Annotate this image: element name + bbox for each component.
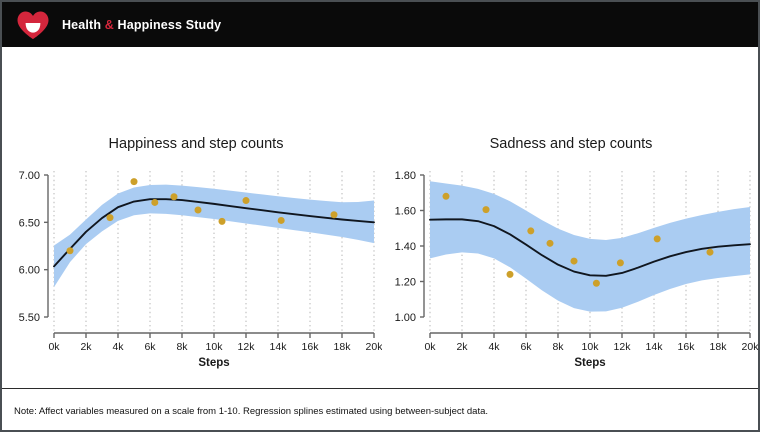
x-tick-label: 2k: [456, 341, 468, 353]
y-tick-label: 1.00: [395, 312, 416, 324]
charts-area: Happiness and step counts 5.506.006.507.…: [2, 47, 758, 388]
page-title: Health & Happiness Study: [62, 18, 221, 32]
plot-group: 1.001.201.401.601.800k2k4k6k8k10k12k14k1…: [395, 170, 758, 369]
data-point: [331, 211, 338, 218]
brand-suffix: Happiness Study: [114, 18, 221, 32]
x-tick-label: 4k: [112, 341, 124, 353]
app-window: Health & Happiness Study Happiness and s…: [0, 0, 760, 432]
x-axis-label: Steps: [198, 357, 229, 369]
chart-sadness: 1.001.201.401.601.800k2k4k6k8k10k12k14k1…: [378, 167, 758, 387]
data-point: [593, 280, 600, 287]
chart-happiness: 5.506.006.507.000k2k4k6k8k10k12k14k16k18…: [2, 167, 382, 387]
data-point: [443, 193, 450, 200]
app-header: Health & Happiness Study: [2, 2, 758, 47]
x-tick-label: 0k: [424, 341, 436, 353]
smiling-heart-icon: [16, 10, 50, 40]
y-tick-label: 5.50: [19, 312, 40, 324]
data-point: [67, 247, 74, 254]
x-tick-label: 14k: [646, 341, 664, 353]
data-point: [151, 199, 158, 206]
data-point: [278, 217, 285, 224]
data-point: [617, 259, 624, 266]
y-tick-label: 1.80: [395, 170, 416, 182]
brand-prefix: Health: [62, 18, 105, 32]
data-point: [243, 197, 250, 204]
data-point: [571, 258, 578, 265]
brand-ampersand: &: [105, 18, 114, 32]
confidence-band: [54, 185, 374, 288]
x-tick-label: 10k: [206, 341, 224, 353]
data-point: [195, 207, 202, 214]
x-tick-label: 2k: [80, 341, 92, 353]
data-point: [527, 227, 534, 234]
x-tick-label: 16k: [678, 341, 696, 353]
x-tick-label: 0k: [48, 341, 60, 353]
y-tick-label: 6.50: [19, 217, 40, 229]
y-tick-label: 1.20: [395, 277, 416, 289]
x-tick-label: 18k: [710, 341, 728, 353]
x-tick-label: 12k: [238, 341, 256, 353]
y-tick-label: 7.00: [19, 170, 40, 182]
x-tick-label: 16k: [302, 341, 320, 353]
x-tick-label: 14k: [270, 341, 288, 353]
x-tick-label: 8k: [176, 341, 188, 353]
plot-group: 5.506.006.507.000k2k4k6k8k10k12k14k16k18…: [19, 170, 382, 369]
confidence-band: [430, 181, 750, 311]
x-tick-label: 18k: [334, 341, 352, 353]
chart-panel-sadness: Sadness and step counts 1.001.201.401.60…: [378, 47, 758, 388]
footer-bar: Note: Affect variables measured on a sca…: [2, 388, 758, 430]
x-axis-label: Steps: [574, 357, 605, 369]
chart-title-sadness: Sadness and step counts: [378, 136, 758, 152]
data-point: [483, 206, 490, 213]
x-tick-label: 6k: [520, 341, 532, 353]
x-tick-label: 4k: [488, 341, 500, 353]
footnote-text: Note: Affect variables measured on a sca…: [14, 406, 488, 417]
data-point: [131, 178, 138, 185]
x-tick-label: 10k: [582, 341, 600, 353]
x-tick-label: 8k: [552, 341, 564, 353]
chart-title-happiness: Happiness and step counts: [2, 136, 382, 152]
chart-panel-happiness: Happiness and step counts 5.506.006.507.…: [2, 47, 382, 388]
data-point: [219, 218, 226, 225]
x-tick-label: 6k: [144, 341, 156, 353]
y-tick-label: 1.60: [395, 206, 416, 218]
x-tick-label: 20k: [742, 341, 758, 353]
data-point: [171, 193, 178, 200]
data-point: [654, 235, 661, 242]
data-point: [107, 214, 114, 221]
data-point: [707, 249, 714, 256]
y-tick-label: 1.40: [395, 241, 416, 253]
data-point: [507, 271, 514, 278]
x-tick-label: 12k: [614, 341, 632, 353]
y-tick-label: 6.00: [19, 265, 40, 277]
data-point: [547, 240, 554, 247]
